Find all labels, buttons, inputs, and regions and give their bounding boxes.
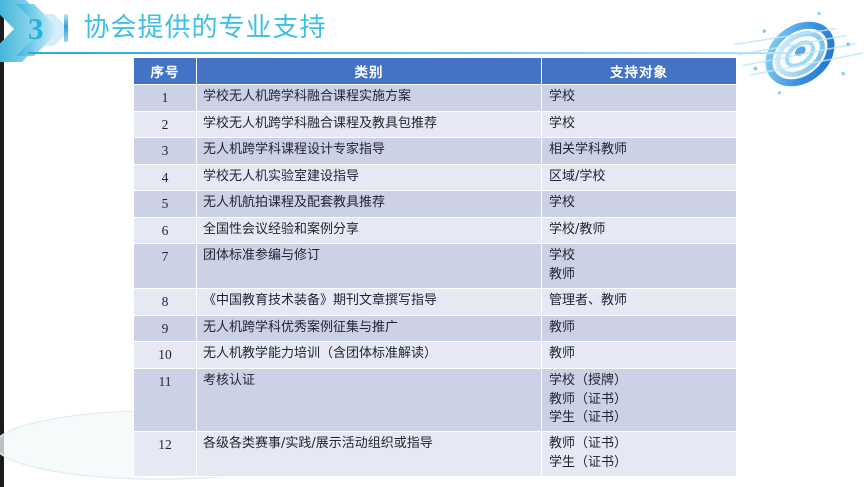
page-title: 协会提供的专业支持	[84, 15, 327, 41]
table-row: 9无人机跨学科优秀案例征集与推广教师	[134, 315, 737, 342]
cell-object: 相关学科教师	[542, 138, 737, 165]
cell-category: 无人机跨学科优秀案例征集与推广	[197, 315, 542, 342]
cell-category: 无人机教学能力培训（含团体标准解读）	[197, 342, 542, 369]
cell-category: 学校无人机跨学科融合课程实施方案	[197, 85, 542, 112]
cell-object-line: 学生（证书）	[549, 409, 736, 428]
table-row: 5无人机航拍课程及配套教具推荐学校	[134, 191, 737, 218]
cell-object-line: 学校/教师	[549, 221, 736, 240]
column-header-no: 序号	[134, 58, 197, 85]
cell-no: 6	[134, 217, 197, 244]
cell-object: 教师	[542, 315, 737, 342]
cell-no: 1	[134, 85, 197, 112]
cell-object: 学校/教师	[542, 217, 737, 244]
cell-no: 11	[134, 368, 197, 432]
cell-object-line: 相关学科教师	[549, 141, 736, 160]
cell-category: 无人机跨学科课程设计专家指导	[197, 138, 542, 165]
cell-object: 教师（证书）学生（证书）	[542, 432, 737, 477]
title-separator	[64, 14, 68, 42]
cell-object: 区域/学校	[542, 164, 737, 191]
cell-object-line: 学校	[549, 115, 736, 134]
cell-no: 5	[134, 191, 197, 218]
cell-object: 学校教师	[542, 244, 737, 289]
section-number: 3	[28, 13, 46, 44]
cell-object-line: 管理者、教师	[549, 292, 736, 311]
cell-category: 考核认证	[197, 368, 542, 432]
cell-no: 2	[134, 111, 197, 138]
cell-object-line: 学生（证书）	[549, 454, 736, 473]
cell-no: 12	[134, 432, 197, 477]
cell-object: 学校	[542, 111, 737, 138]
cell-category: 学校无人机实验室建设指导	[197, 164, 542, 191]
swirl-globe-icon	[734, 0, 864, 115]
table-header: 序号 类别 支持对象	[134, 58, 737, 85]
cell-object: 教师	[542, 342, 737, 369]
table-row: 4学校无人机实验室建设指导区域/学校	[134, 164, 737, 191]
cell-object-line: 学校	[549, 247, 736, 266]
cell-no: 7	[134, 244, 197, 289]
table-row: 6全国性会议经验和案例分享学校/教师	[134, 217, 737, 244]
cell-category: 无人机航拍课程及配套教具推荐	[197, 191, 542, 218]
table-row: 7团体标准参编与修订学校教师	[134, 244, 737, 289]
cell-object-line: 教师	[549, 345, 736, 364]
cell-category: 学校无人机跨学科融合课程及教具包推荐	[197, 111, 542, 138]
table-header-row: 序号 类别 支持对象	[134, 58, 737, 85]
cell-category: 《中国教育技术装备》期刊文章撰写指导	[197, 289, 542, 316]
table-row: 12各级各类赛事/实践/展示活动组织或指导教师（证书）学生（证书）	[134, 432, 737, 477]
table-row: 8《中国教育技术装备》期刊文章撰写指导管理者、教师	[134, 289, 737, 316]
cell-object-line: 区域/学校	[549, 168, 736, 187]
blue-swirl-globe-decoration	[734, 0, 864, 115]
title-underline	[28, 52, 790, 54]
cell-category: 各级各类赛事/实践/展示活动组织或指导	[197, 432, 542, 477]
cell-object-line: 教师（证书）	[549, 391, 736, 410]
cell-object-line: 学校（授牌）	[549, 372, 736, 391]
cell-category: 团体标准参编与修订	[197, 244, 542, 289]
cell-object: 学校（授牌）教师（证书）学生（证书）	[542, 368, 737, 432]
cell-object: 管理者、教师	[542, 289, 737, 316]
column-header-category: 类别	[197, 58, 542, 85]
column-header-object: 支持对象	[542, 58, 737, 85]
cell-object: 学校	[542, 191, 737, 218]
cell-no: 9	[134, 315, 197, 342]
support-table: 序号 类别 支持对象 1学校无人机跨学科融合课程实施方案学校2学校无人机跨学科融…	[133, 57, 737, 477]
table-row: 2学校无人机跨学科融合课程及教具包推荐学校	[134, 111, 737, 138]
cell-object-line: 教师	[549, 266, 736, 285]
cell-object-line: 学校	[549, 194, 736, 213]
table-row: 3无人机跨学科课程设计专家指导相关学科教师	[134, 138, 737, 165]
page-title-row: 3 协会提供的专业支持	[28, 8, 327, 48]
support-table-wrapper: 序号 类别 支持对象 1学校无人机跨学科融合课程实施方案学校2学校无人机跨学科融…	[133, 57, 736, 477]
cell-object-line: 教师	[549, 319, 736, 338]
table-body: 1学校无人机跨学科融合课程实施方案学校2学校无人机跨学科融合课程及教具包推荐学校…	[134, 85, 737, 477]
cell-no: 8	[134, 289, 197, 316]
table-row: 11考核认证学校（授牌）教师（证书）学生（证书）	[134, 368, 737, 432]
cell-category: 全国性会议经验和案例分享	[197, 217, 542, 244]
cell-object: 学校	[542, 85, 737, 112]
cell-object-line: 教师（证书）	[549, 435, 736, 454]
cell-no: 10	[134, 342, 197, 369]
cell-object-line: 学校	[549, 88, 736, 107]
slide-canvas: 3 协会提供的专业支持 序号 类别 支持对象 1学校无人机跨学科融合课程实施方案…	[0, 0, 864, 487]
table-row: 1学校无人机跨学科融合课程实施方案学校	[134, 85, 737, 112]
cell-no: 3	[134, 138, 197, 165]
cell-no: 4	[134, 164, 197, 191]
table-row: 10无人机教学能力培训（含团体标准解读）教师	[134, 342, 737, 369]
